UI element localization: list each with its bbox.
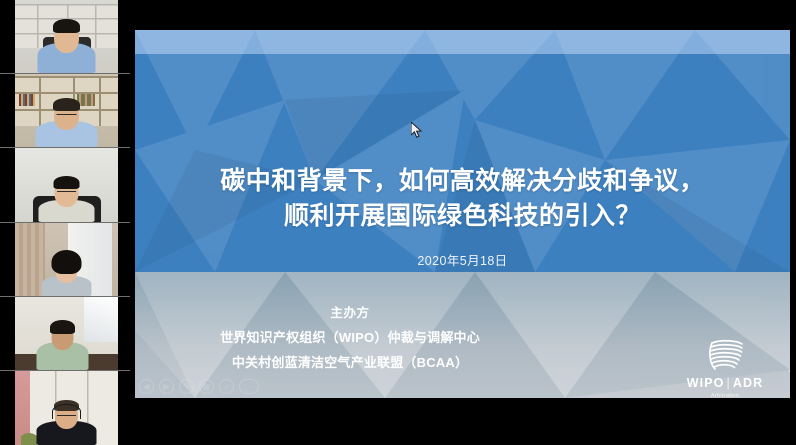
wipo-suffix: ADR bbox=[733, 376, 763, 390]
wipo-globe-icon bbox=[704, 338, 746, 372]
wipo-subtitle: Arbitration and Mediation Center bbox=[673, 392, 777, 398]
participant-3-avatar bbox=[15, 180, 118, 222]
shared-slide[interactable]: 碳中和背景下，如何高效解决分歧和争议， 顺利开展国际绿色科技的引入？ 2020年… bbox=[135, 30, 790, 398]
organizer-block: 主办方 世界知识产权组织（WIPO）仲裁与调解中心 中关村创蓝清洁空气产业联盟（… bbox=[135, 302, 565, 371]
mouse-cursor bbox=[411, 122, 423, 139]
participant-tile-4[interactable]: participant-4 bbox=[0, 223, 130, 297]
pen-tool-button[interactable]: ✎ bbox=[179, 379, 194, 394]
more-options-button[interactable]: ··· bbox=[239, 379, 259, 394]
participant-tile-3[interactable]: participant-3 bbox=[0, 148, 130, 222]
previous-slide-button[interactable]: ◀ bbox=[139, 379, 154, 394]
wipo-wordmark: WIPO|ADR bbox=[673, 376, 777, 390]
next-slide-button[interactable]: ▶ bbox=[159, 379, 174, 394]
participant-5-avatar bbox=[15, 326, 114, 370]
participant-tile-5[interactable]: participant-5 bbox=[0, 297, 130, 371]
organizer-line-2: 中关村创蓝清洁空气产业联盟（BCAA） bbox=[135, 352, 565, 371]
zoom-button[interactable]: ⌕ bbox=[219, 379, 234, 394]
presentation-toolbar[interactable]: ◀ ▶ ✎ ▦ ⌕ ··· bbox=[139, 379, 259, 394]
participant-1-avatar bbox=[15, 27, 118, 73]
bcaa-logo: BC AA bbox=[787, 338, 790, 398]
wipo-logo: WIPO|ADR Arbitration and Mediation Cente… bbox=[673, 338, 777, 398]
participant-tile-2[interactable]: participant-2 bbox=[0, 74, 130, 148]
slide-title-line-1: 碳中和背景下，如何高效解决分歧和争议， bbox=[135, 164, 790, 199]
wipo-divider: | bbox=[726, 376, 730, 390]
wipo-name: WIPO bbox=[687, 376, 725, 390]
participant-filmstrip[interactable]: participant-1 participant-2 bbox=[0, 0, 130, 445]
participant-tile-1[interactable]: participant-1 bbox=[0, 0, 130, 74]
participant-tile-6[interactable]: participant-6 bbox=[0, 371, 130, 445]
organizer-label: 主办方 bbox=[135, 302, 565, 321]
participant-3-glasses-icon bbox=[57, 191, 76, 195]
slide-title: 碳中和背景下，如何高效解决分歧和争议， 顺利开展国际绿色科技的引入？ bbox=[135, 164, 790, 233]
wipo-subtitle-line-1: Arbitration bbox=[673, 392, 777, 398]
slide-title-line-2: 顺利开展国际绿色科技的引入？ bbox=[135, 199, 790, 234]
participant-2-glasses-icon bbox=[57, 114, 77, 118]
slide-date: 2020年5月18日 bbox=[135, 250, 790, 269]
organizer-line-1: 世界知识产权组织（WIPO）仲裁与调解中心 bbox=[135, 327, 565, 346]
screen-share-stage: participant-1 participant-2 bbox=[0, 0, 796, 445]
participant-4-avatar bbox=[15, 256, 118, 296]
participant-6-glasses-icon bbox=[57, 415, 76, 419]
all-slides-button[interactable]: ▦ bbox=[199, 379, 214, 394]
participant-2-avatar bbox=[15, 103, 118, 147]
participant-6-avatar bbox=[15, 403, 118, 445]
